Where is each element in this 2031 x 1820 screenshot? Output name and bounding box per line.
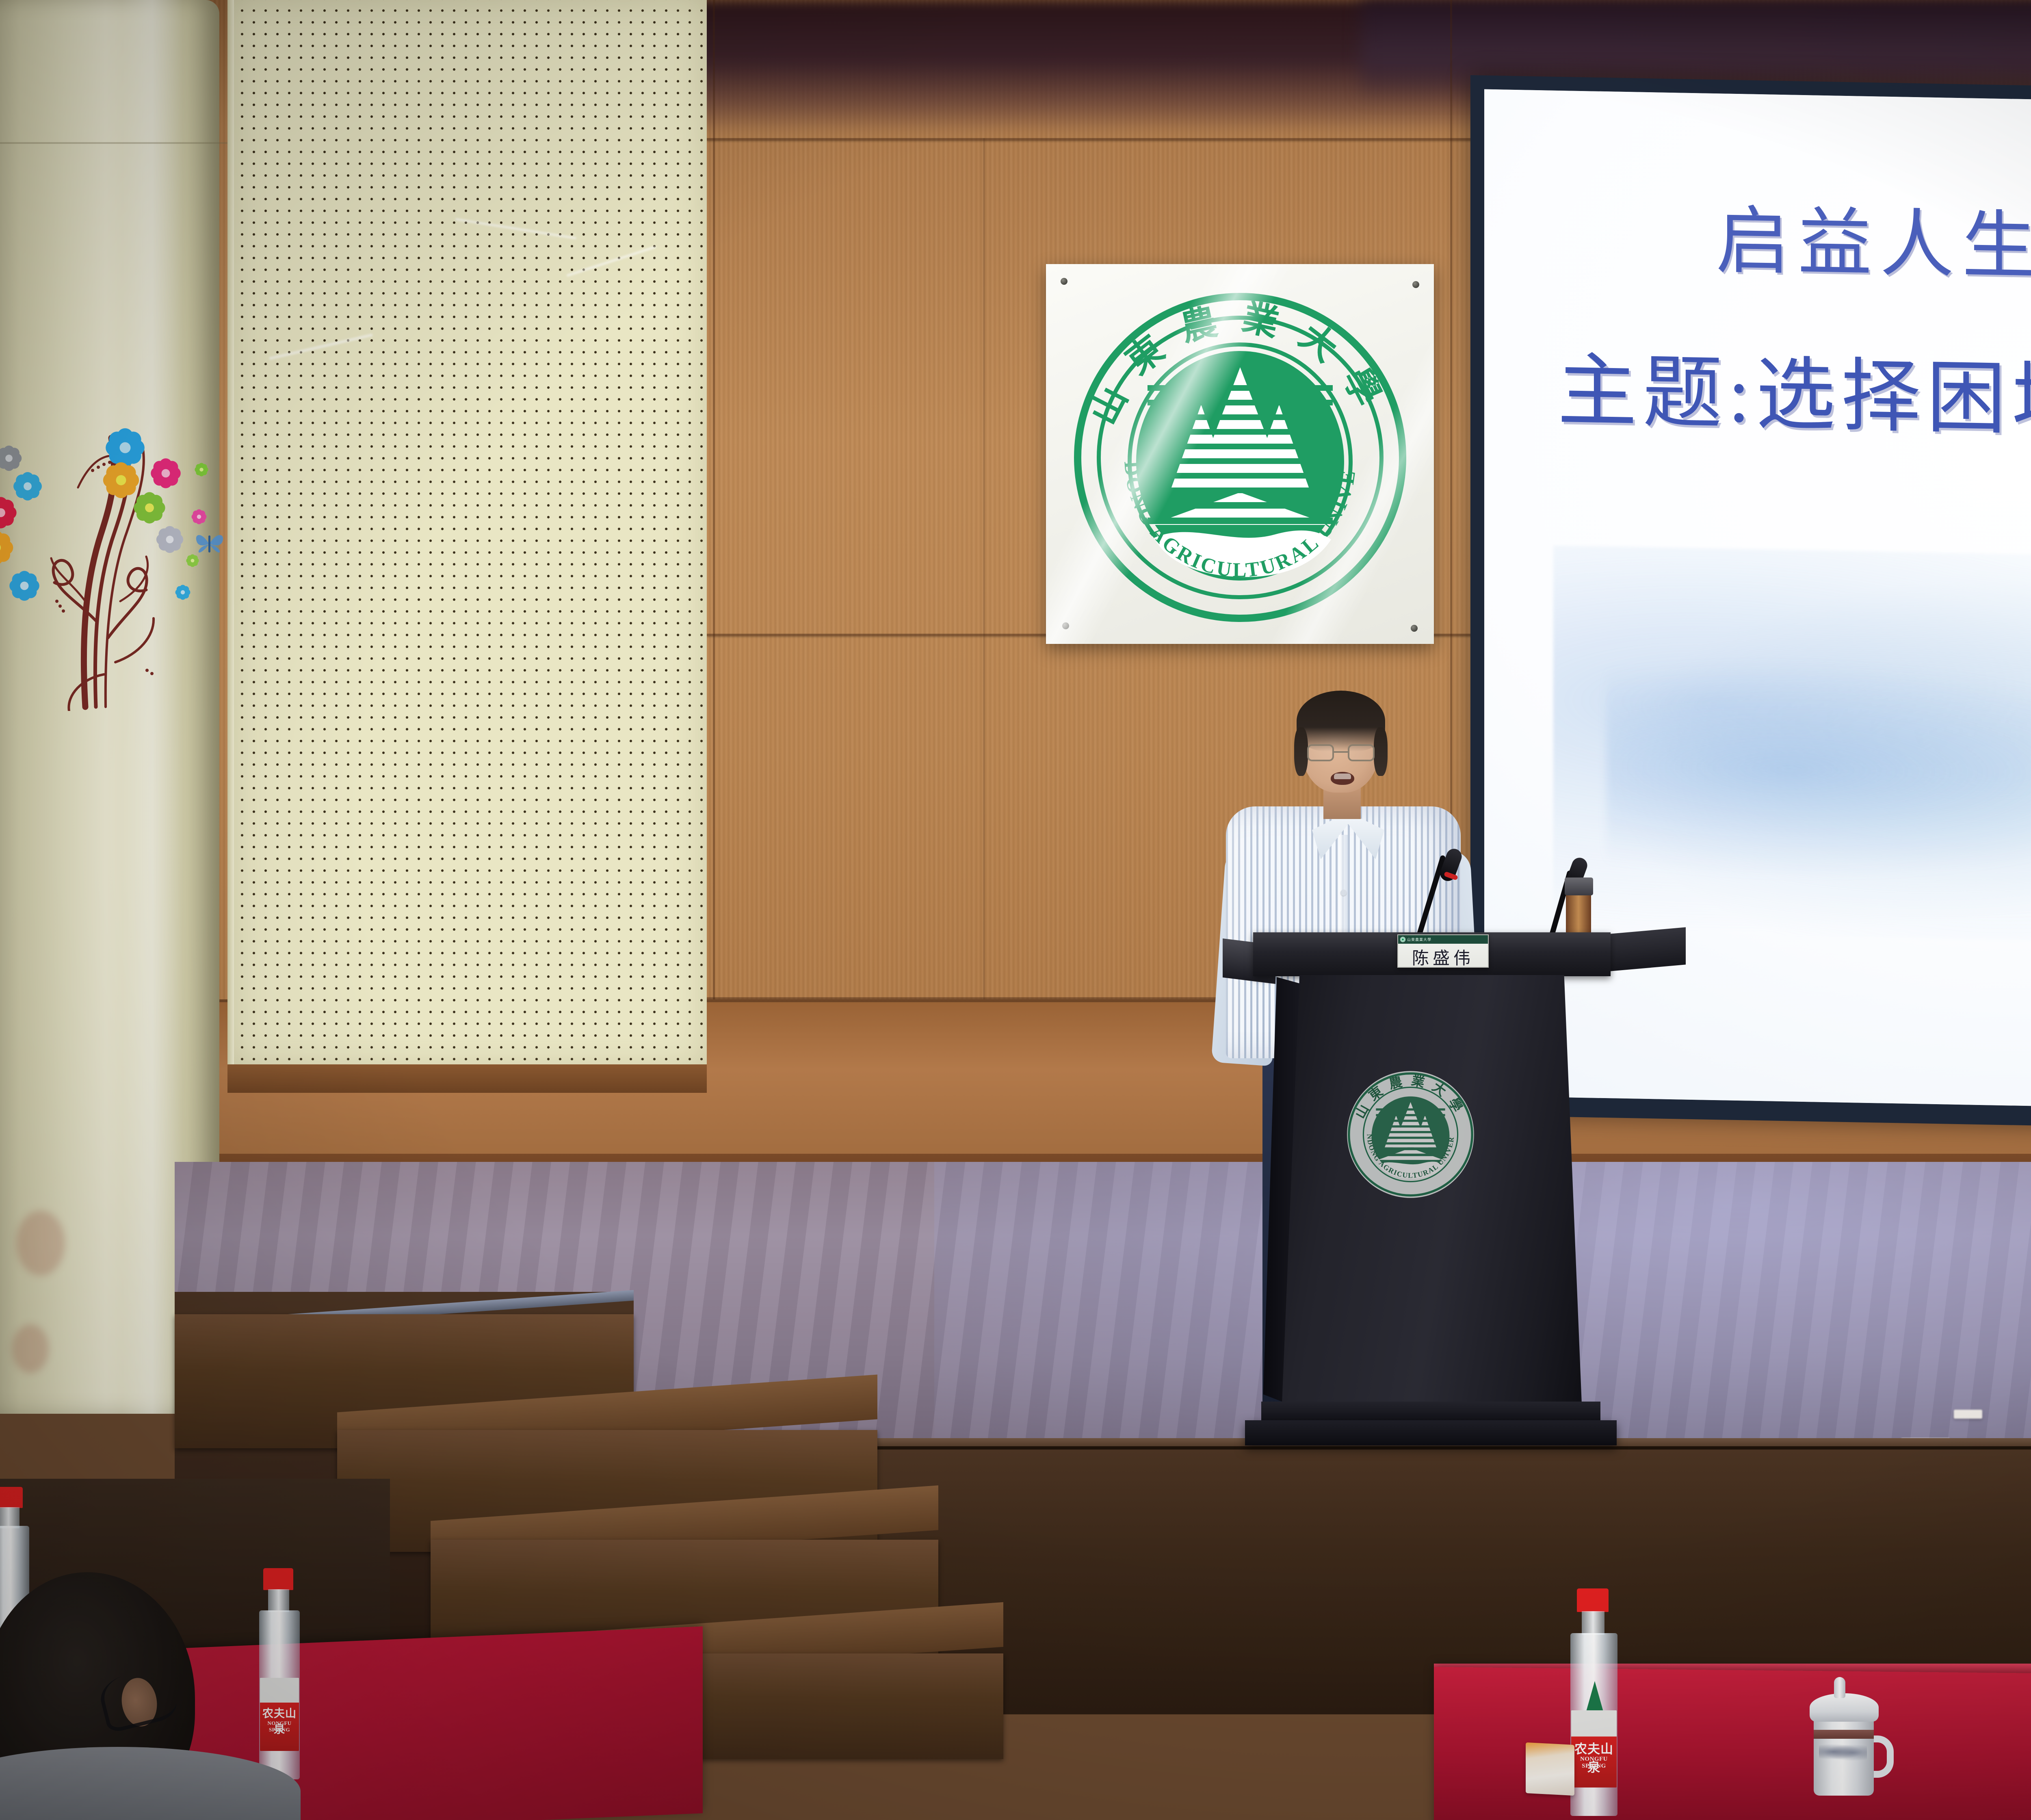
flower-decal-icon [155,525,184,554]
slide-subtitle: 主题:选择困境 [1557,326,2031,451]
nameplate-header: 山東農業大學 [1398,935,1488,944]
lectern-base-lower [1245,1420,1617,1445]
flower-decal-icon [8,570,41,602]
nameplate-logo-icon [1400,937,1405,942]
flower-decal-icon [191,509,207,525]
wall-panel-seam [707,138,1479,141]
speaker-nameplate: 山東農業大學 陈盛伟 [1397,934,1489,968]
university-emblem-icon: 1906 山東農業大學 SHANDONG AGRICULTURAL UNIVER… [1070,289,1411,626]
lectern-base-upper [1261,1402,1600,1423]
podium-cup-lid [1565,877,1593,895]
flower-decal-icon [0,444,23,472]
slide-landscape-image-detail [1606,652,2031,890]
pillar-scuff [16,1211,65,1276]
front-row-table-right [1434,1667,2031,1820]
lecture-hall-scene: 1906 山東農業大學 SHANDONG AGRICULTURAL UNIVER… [0,0,2031,1820]
butterfly-icon [194,529,225,558]
teacup-decoration [1819,1743,1867,1761]
flower-decal-icon [132,491,167,525]
pillar-seam [0,142,227,144]
eyeglasses-icon [1307,744,1375,762]
paper-scrap [1954,1410,1982,1419]
speaker-hair-right [1374,727,1388,776]
teacup-lid-knob [1834,1677,1845,1698]
tissue-pack [1526,1742,1574,1796]
teacup-rim-band [1814,1730,1874,1739]
speaker-hair-left [1294,727,1308,776]
flower-decal-icon [194,462,209,477]
screw-icon [1411,625,1418,632]
university-wall-plaque: 1906 山東農業大學 SHANDONG AGRICULTURAL UNIVER… [1046,264,1434,644]
wall-panel-divider [983,138,985,999]
screw-icon [1412,281,1419,288]
nameplate-name: 陈盛伟 [1398,945,1488,968]
speaker-teeth [1334,773,1351,779]
flower-decal-icon [0,496,18,530]
lectern-university-emblem-icon: 1906 山東農業大學 SHANDONG AGRICULTURAL UNIVER… [1345,1068,1477,1200]
floral-wall-decal [0,386,252,719]
screw-icon [1061,278,1067,285]
shirt-button [1340,890,1347,896]
perforated-acoustic-panel [227,0,707,1068]
pillar-scuff [12,1324,49,1373]
flower-decal-icon [0,459,1,488]
slide-title: 启益人生 [1716,181,2031,294]
nameplate-university: 山東農業大學 [1407,937,1431,942]
flower-decal-icon [175,584,191,600]
screw-icon [1062,622,1069,629]
bottle-brand-label-en: NONGFU SPRING [1571,1756,1617,1770]
flower-decal-icon [149,457,182,490]
bottle-brand-label-en: NONGFU SPRING [260,1720,299,1733]
acoustic-panel-trim [227,1064,707,1093]
flower-decal-icon [0,529,15,566]
wall-panel-divider [713,0,715,999]
speaker-hair [1297,691,1385,752]
water-bottle: 农夫山泉 NONGFU SPRING [256,1568,305,1779]
